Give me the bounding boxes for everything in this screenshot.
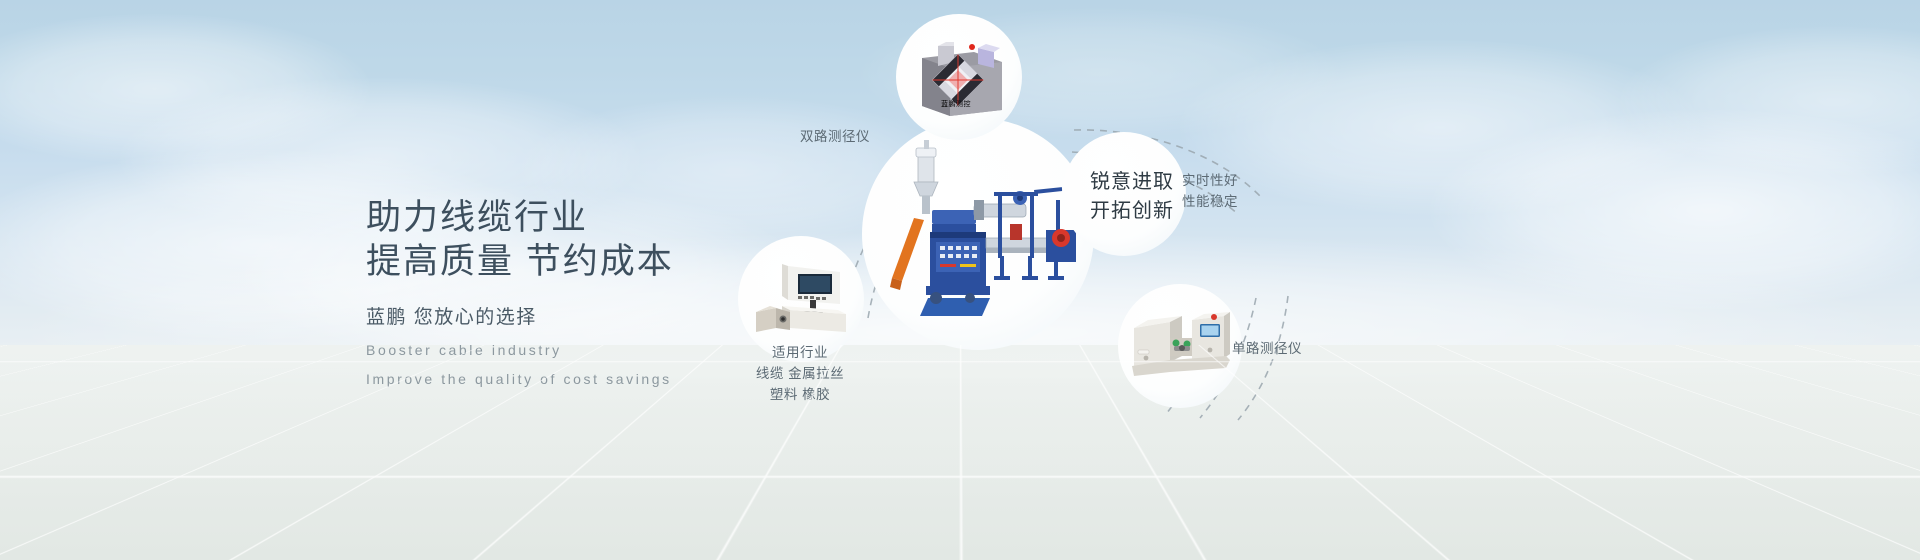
callout-features-line-2: 性能稳定 [1182,191,1238,212]
hero-banner: 助力线缆行业 提高质量 节约成本 蓝鹏 您放心的选择 Booster cable… [0,0,1920,560]
single-gauge-illustration [1130,310,1232,384]
cloud-decoration [0,14,370,164]
dual-gauge-illustration: 蓝鹏测控 [914,36,1010,122]
callout-industries-line-1: 适用行业 [720,342,880,363]
slogan-text: 锐意进取 开拓创新 [1072,168,1192,226]
callout-industries-line-3: 塑料 橡胶 [720,384,880,405]
callout-features: 实时性好 性能稳定 [1182,170,1238,212]
monitor-device-illustration [754,262,852,344]
callout-dual-gauge: 双路测径仪 [800,126,870,147]
callout-features-line-1: 实时性好 [1182,170,1238,191]
slogan-line-2: 开拓创新 [1072,197,1192,226]
callout-single-gauge: 单路测径仪 [1232,338,1302,359]
slogan-line-1: 锐意进取 [1072,168,1192,197]
product-composition: 蓝鹏测控 [700,0,1920,560]
callout-industries-line-2: 线缆 金属拉丝 [720,363,880,384]
device-brand-badge: 蓝鹏测控 [941,99,971,108]
callout-industries: 适用行业 线缆 金属拉丝 塑料 橡胶 [720,342,880,405]
